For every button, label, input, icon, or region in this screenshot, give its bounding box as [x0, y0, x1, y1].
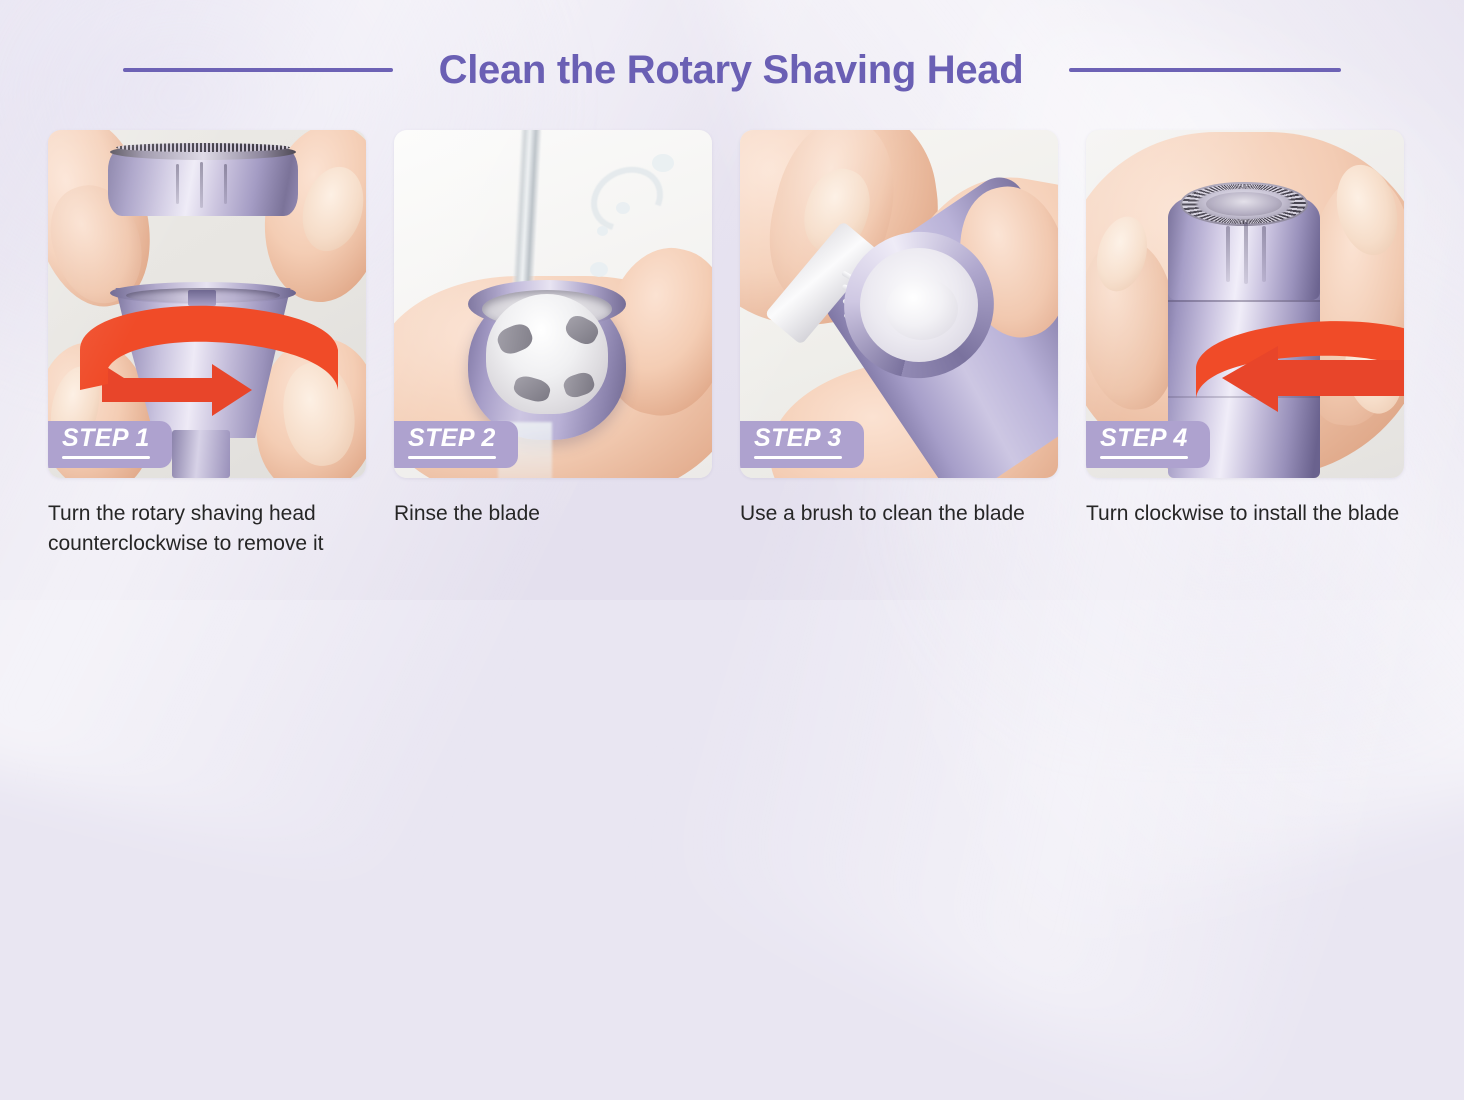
water-droplet-a [652, 154, 674, 172]
water-droplet-c [597, 226, 608, 236]
blade-foil-teeth [116, 143, 290, 152]
step-card-2: STEP 2 Rinse the blade [394, 130, 712, 560]
cap-rib-2 [200, 162, 203, 208]
counterclockwise-rotation-arrow [62, 298, 352, 418]
step-3-badge-label: STEP 3 [754, 424, 842, 452]
head-rib-3 [1262, 226, 1266, 282]
step-3-badge-underline [754, 456, 842, 459]
step-1-badge-underline [62, 456, 150, 459]
step-2-badge-label: STEP 2 [408, 424, 496, 452]
step-2-caption: Rinse the blade [394, 499, 712, 529]
title-rule-right [1069, 68, 1341, 72]
step-card-4: STEP 4 Turn clockwise to install the bla… [1086, 130, 1404, 560]
step-4-caption: Turn clockwise to install the blade [1086, 499, 1404, 529]
step-1-photo: STEP 1 [48, 130, 366, 478]
cap-rib-1 [176, 164, 179, 204]
step-2-badge-underline [408, 456, 496, 459]
step-3-caption: Use a brush to clean the blade [740, 499, 1058, 529]
water-droplet-d [590, 262, 608, 277]
head-rib-1 [1226, 226, 1230, 282]
step-1-badge-label: STEP 1 [62, 424, 150, 452]
blade-dome [886, 278, 958, 340]
water-droplet-b [616, 202, 630, 214]
step-card-3: STEP 3 Use a brush to clean the blade [740, 130, 1058, 560]
title-rule-left [123, 68, 393, 72]
step-1-caption: Turn the rotary shaving head countercloc… [48, 499, 366, 559]
clockwise-rotation-arrow [1182, 316, 1404, 432]
step-card-1: STEP 1 Turn the rotary shaving head coun… [48, 130, 366, 560]
page-title: Clean the Rotary Shaving Head [439, 50, 1024, 90]
shaver-handle-stem [172, 430, 230, 478]
step-3-photo: STEP 3 [740, 130, 1058, 478]
step-4-photo: STEP 4 [1086, 130, 1404, 478]
step-4-badge-label: STEP 4 [1100, 424, 1188, 452]
step-4-badge-underline [1100, 456, 1188, 459]
cap-rib-3 [224, 164, 227, 204]
step-3-badge: STEP 3 [740, 421, 864, 468]
steps-grid: STEP 1 Turn the rotary shaving head coun… [48, 130, 1416, 560]
step-2-badge: STEP 2 [394, 421, 518, 468]
head-body-seam [1168, 300, 1320, 302]
head-rib-2 [1244, 222, 1248, 284]
step-1-badge: STEP 1 [48, 421, 172, 468]
page-header: Clean the Rotary Shaving Head [0, 40, 1464, 100]
step-4-badge: STEP 4 [1086, 421, 1210, 468]
rotary-foil-center [1206, 192, 1282, 216]
step-2-photo: STEP 2 [394, 130, 712, 478]
